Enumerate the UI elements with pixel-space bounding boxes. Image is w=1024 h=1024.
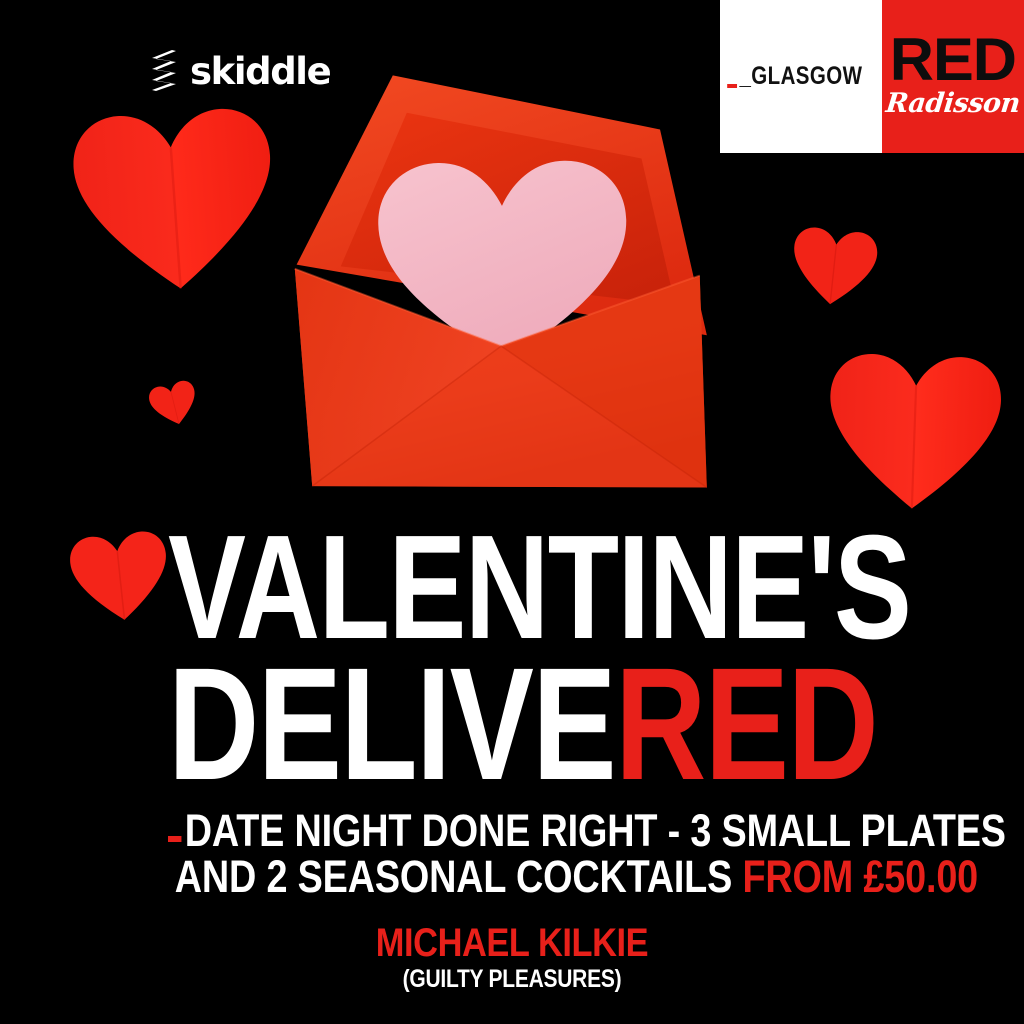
lockup-red-wordmark: RED: [890, 31, 1016, 88]
headline: VALENTINE'S DELIVERED: [168, 524, 888, 793]
headline-line-2-red: RED: [615, 634, 877, 813]
heart-mid-left: [145, 377, 202, 431]
poster-canvas: skiddle _GLASGOW RED Radisson: [0, 0, 1024, 1024]
heart-mid-right: [809, 348, 1019, 515]
subtitle-block: DATE NIGHT DONE RIGHT - 3 SMALL PLATES A…: [168, 808, 898, 901]
radisson-red-glasgow-lockup[interactable]: _GLASGOW RED Radisson: [720, 0, 1024, 153]
headline-line-2-white: DELIVE: [168, 634, 615, 813]
headline-line-1: VALENTINE'S: [168, 524, 737, 651]
subtitle-price: FROM £50.00: [742, 851, 978, 902]
artist-name: MICHAEL KILKIE: [72, 922, 953, 964]
subtitle-line-2: AND 2 SEASONAL COCKTAILS FROM £50.00: [168, 854, 781, 900]
open-envelope-with-heart-card-icon: [276, 46, 726, 526]
artist-crew: (GUILTY PLEASURES): [82, 966, 942, 994]
lockup-city-block: _GLASGOW: [720, 0, 882, 153]
lockup-city-label: _GLASGOW: [740, 62, 863, 91]
subtitle-line-1: DATE NIGHT DONE RIGHT - 3 SMALL PLATES: [168, 808, 781, 854]
lockup-red-block: RED Radisson: [882, 0, 1024, 153]
headline-line-2: DELIVERED: [168, 655, 737, 793]
heart-top-left: [66, 101, 283, 300]
subtitle-line-1-text: DATE NIGHT DONE RIGHT - 3 SMALL PLATES: [185, 805, 1006, 856]
lockup-radisson-script: Radisson: [885, 90, 1022, 117]
artist-block: MICHAEL KILKIE (GUILTY PLEASURES): [0, 922, 1024, 994]
heart-bottom-left: [65, 526, 174, 628]
red-underscore-accent-icon: [168, 836, 181, 842]
skiddle-zigzag-mark: [150, 50, 180, 92]
subtitle-line-2-white: AND 2 SEASONAL COCKTAILS: [175, 851, 732, 902]
heart-top-right: [786, 224, 882, 311]
